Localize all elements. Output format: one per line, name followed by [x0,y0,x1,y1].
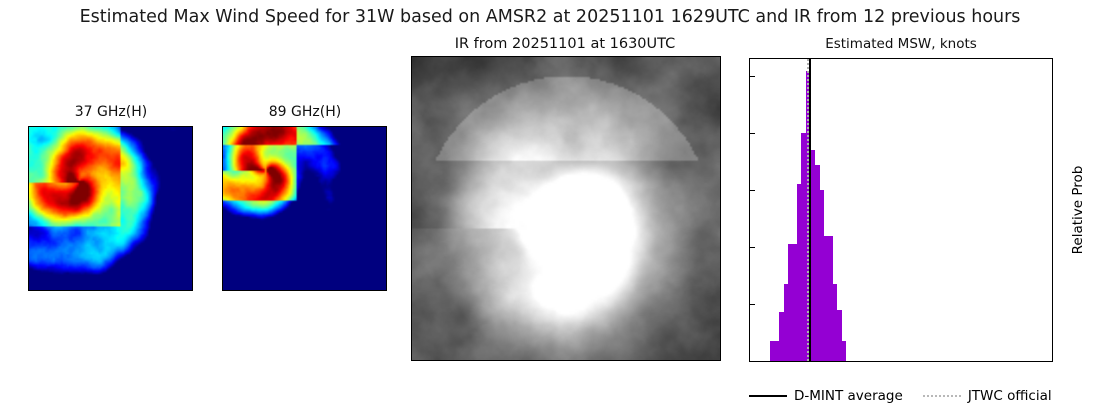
y-axis-tick [750,304,755,305]
y-axis-tick [750,190,755,191]
line-dotted-icon [923,395,961,397]
histogram-panel: 2550751001251500.00.20.40.60.81.0 [749,58,1053,362]
mw37-canvas [29,127,192,290]
legend-item-jtwc-official: JTWC official [923,388,1052,404]
line-solid-icon [749,395,787,397]
y-axis-tick [750,76,755,77]
plot-area: 2550751001251500.00.20.40.60.81.0 [750,59,1051,360]
legend-item-dmint-average: D-MINT average [749,388,903,404]
figure-canvas: Estimated Max Wind Speed for 31W based o… [0,0,1100,409]
ir-panel-title: IR from 20251101 at 1630UTC [410,36,720,52]
mw89-canvas [223,127,386,290]
mw37-image [28,126,193,291]
mw89-panel-title: 89 GHz(H) [222,104,388,120]
legend-label-jtwc-official: JTWC official [968,388,1052,404]
y-axis-tick [750,133,755,134]
page-title: Estimated Max Wind Speed for 31W based o… [0,6,1100,28]
mw37-panel-title: 37 GHz(H) [28,104,194,120]
ir-image [411,56,721,361]
histogram-bar [841,341,846,361]
y-axis-tick [750,247,755,248]
legend-label-dmint-average: D-MINT average [794,388,903,404]
legend: D-MINT average JTWC official [749,386,1089,406]
dmint-average-line [809,59,811,360]
ir-canvas [412,57,720,360]
histogram-title: Estimated MSW, knots [749,36,1053,52]
mw89-image [222,126,387,291]
y-axis-label: Relative Prob [1070,166,1086,255]
